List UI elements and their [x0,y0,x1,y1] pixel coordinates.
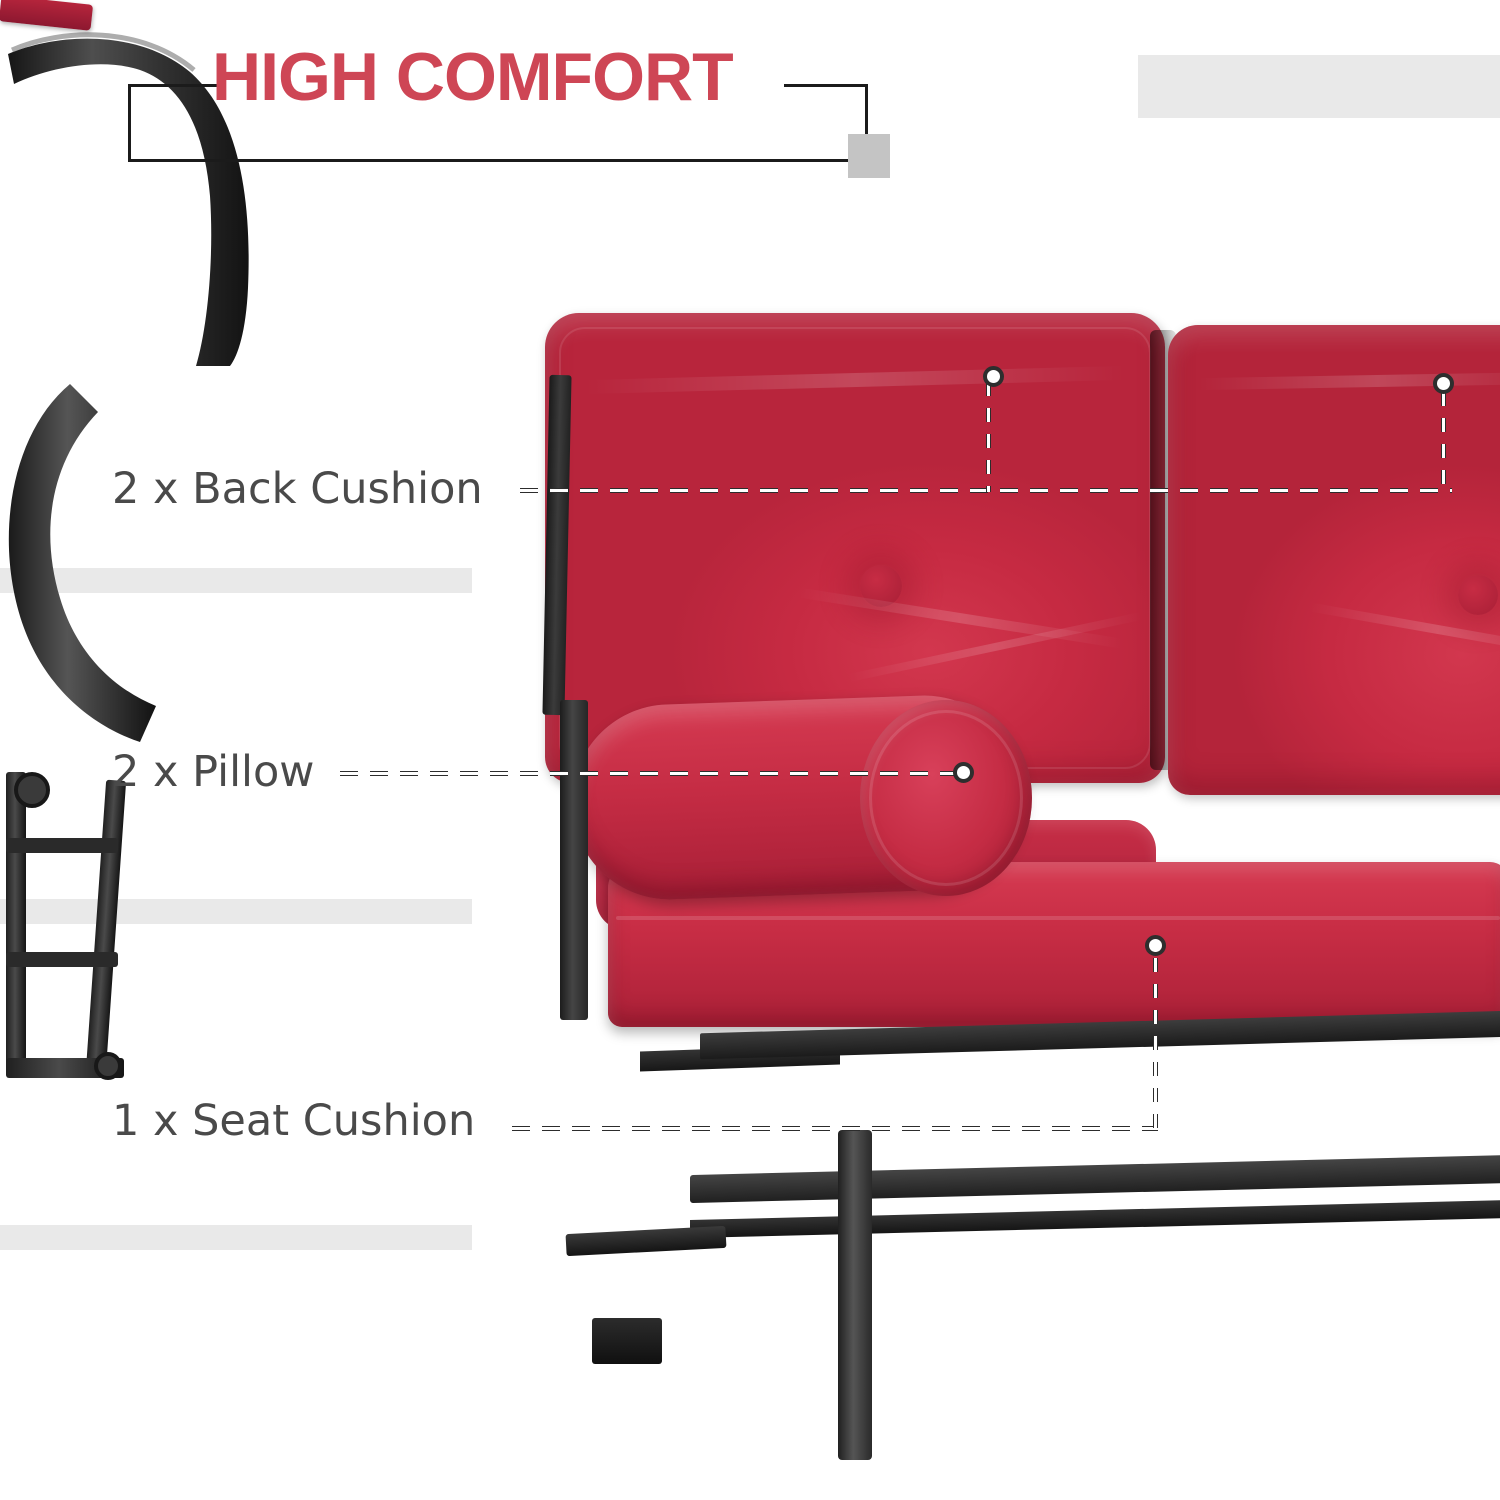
glider-pivot-bolt-lower [96,1054,120,1078]
leader-line-back-cushion-right-branch [1441,392,1446,492]
glider-pivot-bolt [16,774,48,806]
bolster-pillow-end-cap [860,700,1032,896]
fabric-fold [1198,372,1500,390]
leader-line-seat-cushion-vertical [1153,958,1158,1130]
front-leg-right [838,1130,872,1460]
leader-line-pillow [340,771,956,776]
marker-dot-pillow [953,762,974,783]
page-title: HIGH COMFORT [212,42,733,112]
glider-base-bar [566,1226,727,1256]
leader-line-seat-cushion-horizontal [512,1126,1158,1131]
marker-dot-back-cushion-right [1433,373,1454,394]
glider-swing-arm [0,366,330,766]
frame-left-upright [560,700,588,1020]
leader-line-back-cushion-left-branch [986,382,991,492]
pillow-rim-seam [869,710,1023,886]
callout-label-back-cushion: 2 x Back Cushion [112,466,483,512]
cushion-piping [616,916,1500,920]
bracket-left-edge [128,84,131,162]
base-rail-lower [690,1200,1500,1238]
bracket-top-right-segment [784,84,868,87]
bracket-bottom-edge [128,159,868,162]
bracket-accent-square [848,134,890,178]
callout-label-seat-cushion: 1 x Seat Cushion [112,1098,475,1144]
marker-dot-seat-cushion [1145,935,1166,956]
back-cushion-right [1168,325,1500,795]
callout-label-pillow: 2 x Pillow [112,749,314,795]
infographic-canvas: HIGH COMFORT 2 x Back Cushion 2 x Pillow… [0,0,1500,1500]
cushion-tuft-button [1458,575,1498,615]
glider-inner-frame [0,766,180,1096]
base-rail-upper [690,1155,1500,1203]
marker-dot-back-cushion-left [983,366,1004,387]
glider-foot [592,1318,662,1364]
